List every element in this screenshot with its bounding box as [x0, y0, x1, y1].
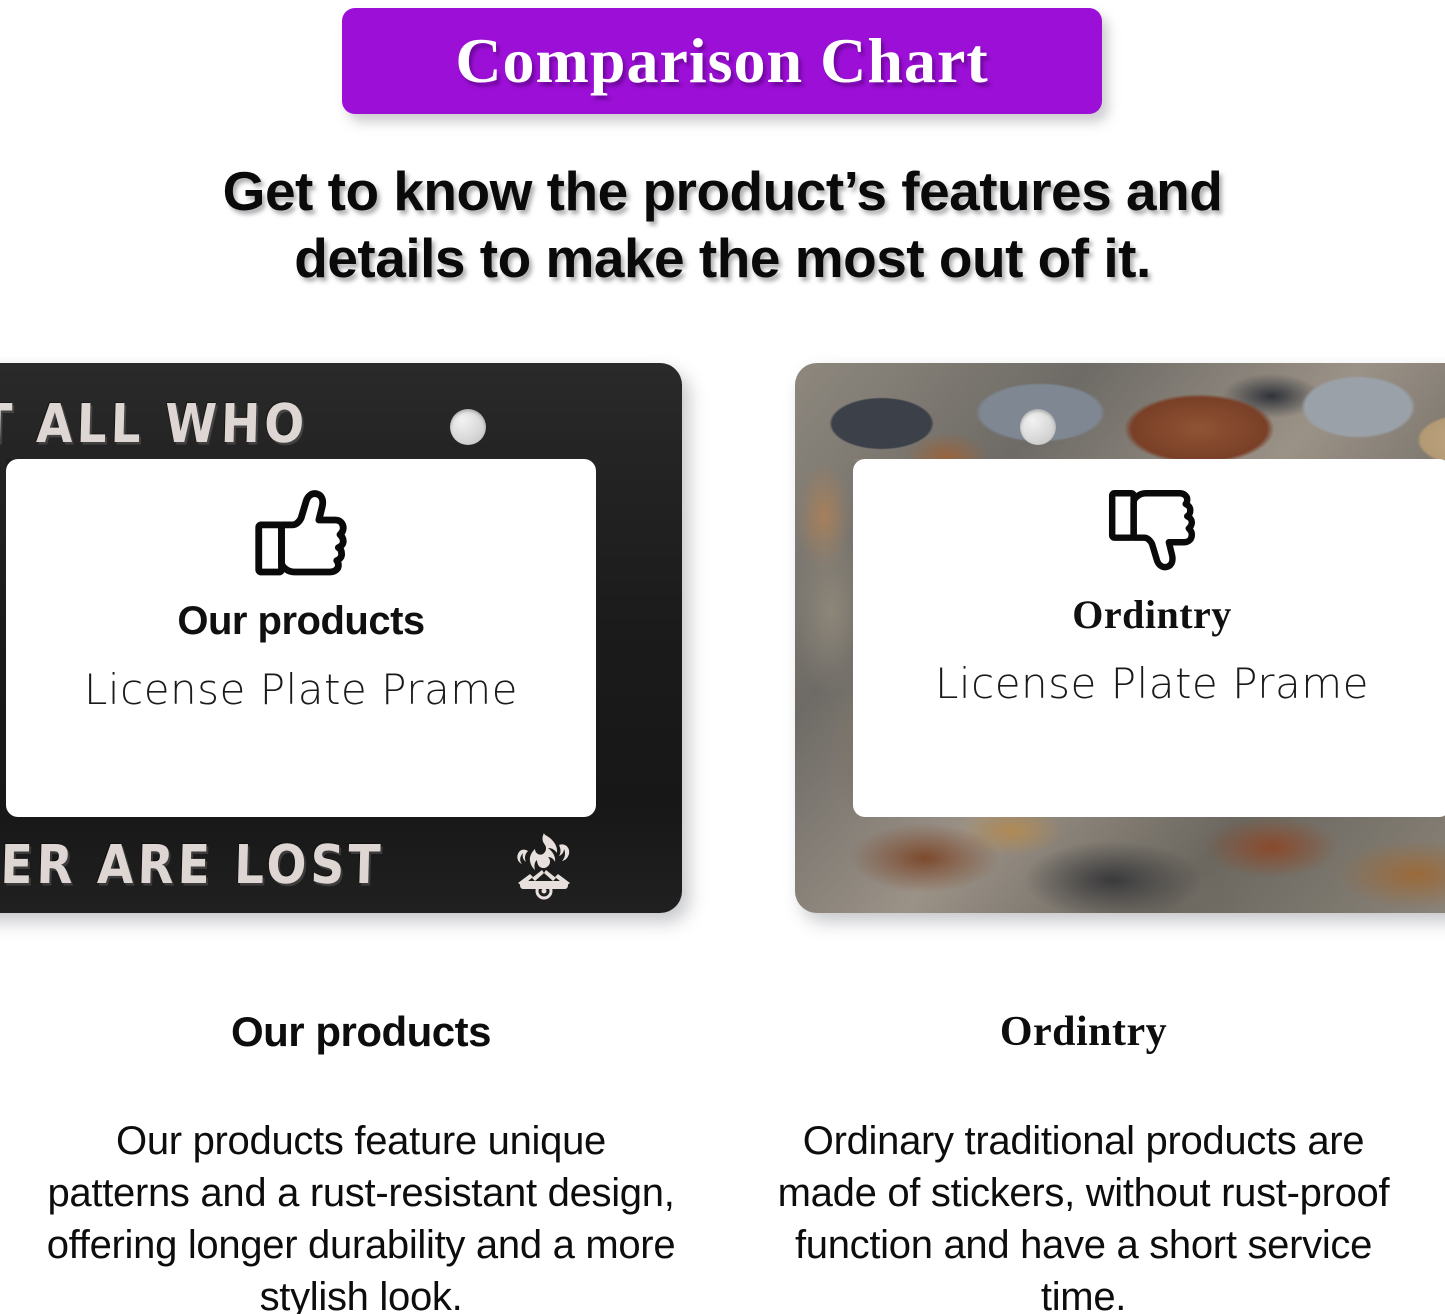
title-banner: Comparison Chart [342, 8, 1102, 114]
ordinary-product-heading: Ordintry [1000, 1011, 1167, 1053]
page-title: Comparison Chart [455, 29, 988, 93]
our-product-window-label: Our products [177, 601, 424, 641]
campfire-icon [508, 831, 580, 907]
ordinary-product-window-sublabel: License Plate Prame [935, 663, 1369, 705]
our-product-window-sublabel: License Plate Prame [84, 669, 518, 711]
ordinary-product-column: Ordintry Ordinary traditional products a… [722, 985, 1445, 1314]
ordinary-product-plate-frame: Ordintry License Plate Prame [795, 363, 1445, 913]
our-product-description: Our products feature unique patterns and… [41, 1115, 681, 1314]
ordinary-product-plate-window: Ordintry License Plate Prame [853, 459, 1445, 817]
product-frames-row: OT ALL WHO IDER ARE LOST [0, 355, 1445, 925]
our-product-plate-frame: OT ALL WHO IDER ARE LOST [0, 363, 682, 913]
page-subtitle: Get to know the product’s features and d… [0, 158, 1445, 292]
mounting-hole [1020, 409, 1056, 445]
ordinary-product-window-label: Ordintry [1072, 595, 1232, 635]
our-product-column: Our products Our products feature unique… [0, 985, 722, 1314]
comparison-chart-page: Comparison Chart Get to know the product… [0, 0, 1445, 1314]
subtitle-line-1: Get to know the product’s features and [0, 158, 1445, 225]
frame-bottom-slogan: IDER ARE LOST [0, 834, 385, 897]
frame-top-slogan: OT ALL WHO [0, 393, 309, 456]
our-product-heading: Our products [231, 1011, 491, 1053]
subtitle-line-2: details to make the most out of it. [0, 225, 1445, 292]
thumbs-down-icon [1103, 481, 1201, 579]
comparison-columns: Our products Our products feature unique… [0, 985, 1445, 1314]
our-product-plate-window: Our products License Plate Prame [6, 459, 596, 817]
thumbs-up-icon [249, 481, 353, 585]
ordinary-product-description: Ordinary traditional products are made o… [764, 1115, 1404, 1314]
